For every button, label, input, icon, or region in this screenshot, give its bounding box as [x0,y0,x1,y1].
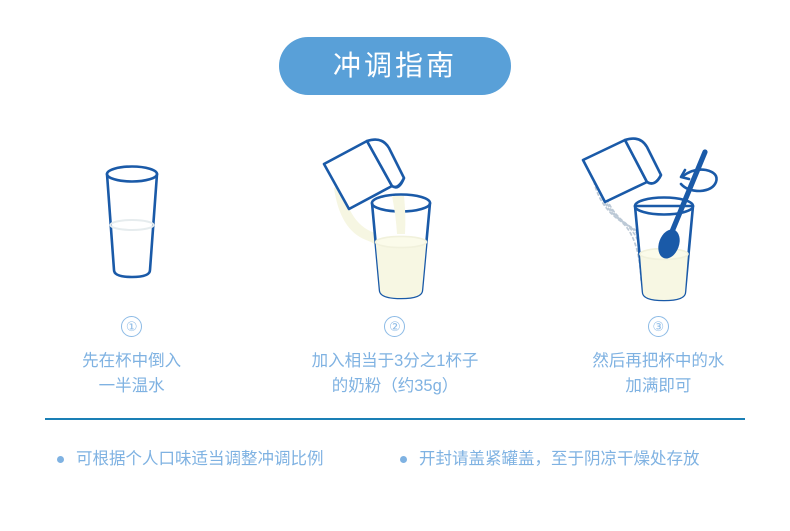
step-3-caption: 然后再把杯中的水 加满即可 [592,349,724,399]
note-text-2: 开封请盖紧罐盖，至于阴凉干燥处存放 [419,448,700,470]
page-title: 冲调指南 [333,52,457,80]
step-3-illustration [527,130,790,310]
step-2: ② 加入相当于3分之1杯子 的奶粉（约35g） [263,130,526,400]
pouring-water-stirring-spoon-icon [563,130,753,310]
page-title-pill: 冲调指南 [279,37,511,95]
steps-row: ① 先在杯中倒入 一半温水 [0,130,790,400]
note-text-1: 可根据个人口味适当调整冲调比例 [76,448,324,470]
pouring-powder-into-glass-icon [300,130,490,310]
step-1: ① 先在杯中倒入 一半温水 [0,130,263,400]
note-item-1: 可根据个人口味适当调整冲调比例 [45,448,400,470]
step-1-caption: 先在杯中倒入 一半温水 [82,349,181,399]
step-1-number: ① [121,316,142,337]
step-2-number: ② [384,316,405,337]
note-item-2: 开封请盖紧罐盖，至于阴凉干燥处存放 [400,448,700,470]
step-2-illustration [263,130,526,310]
section-divider [45,418,745,420]
bullet-dot-icon [57,456,64,463]
step-3-number: ③ [648,316,669,337]
notes-row: 可根据个人口味适当调整冲调比例 开封请盖紧罐盖，至于阴凉干燥处存放 [45,448,745,470]
step-1-illustration [0,130,263,310]
step-2-caption: 加入相当于3分之1杯子 的奶粉（约35g） [312,349,479,399]
bullet-dot-icon [400,456,407,463]
glass-half-water-icon [52,130,212,310]
step-3: ③ 然后再把杯中的水 加满即可 [527,130,790,400]
water-carton-shape [583,139,661,202]
